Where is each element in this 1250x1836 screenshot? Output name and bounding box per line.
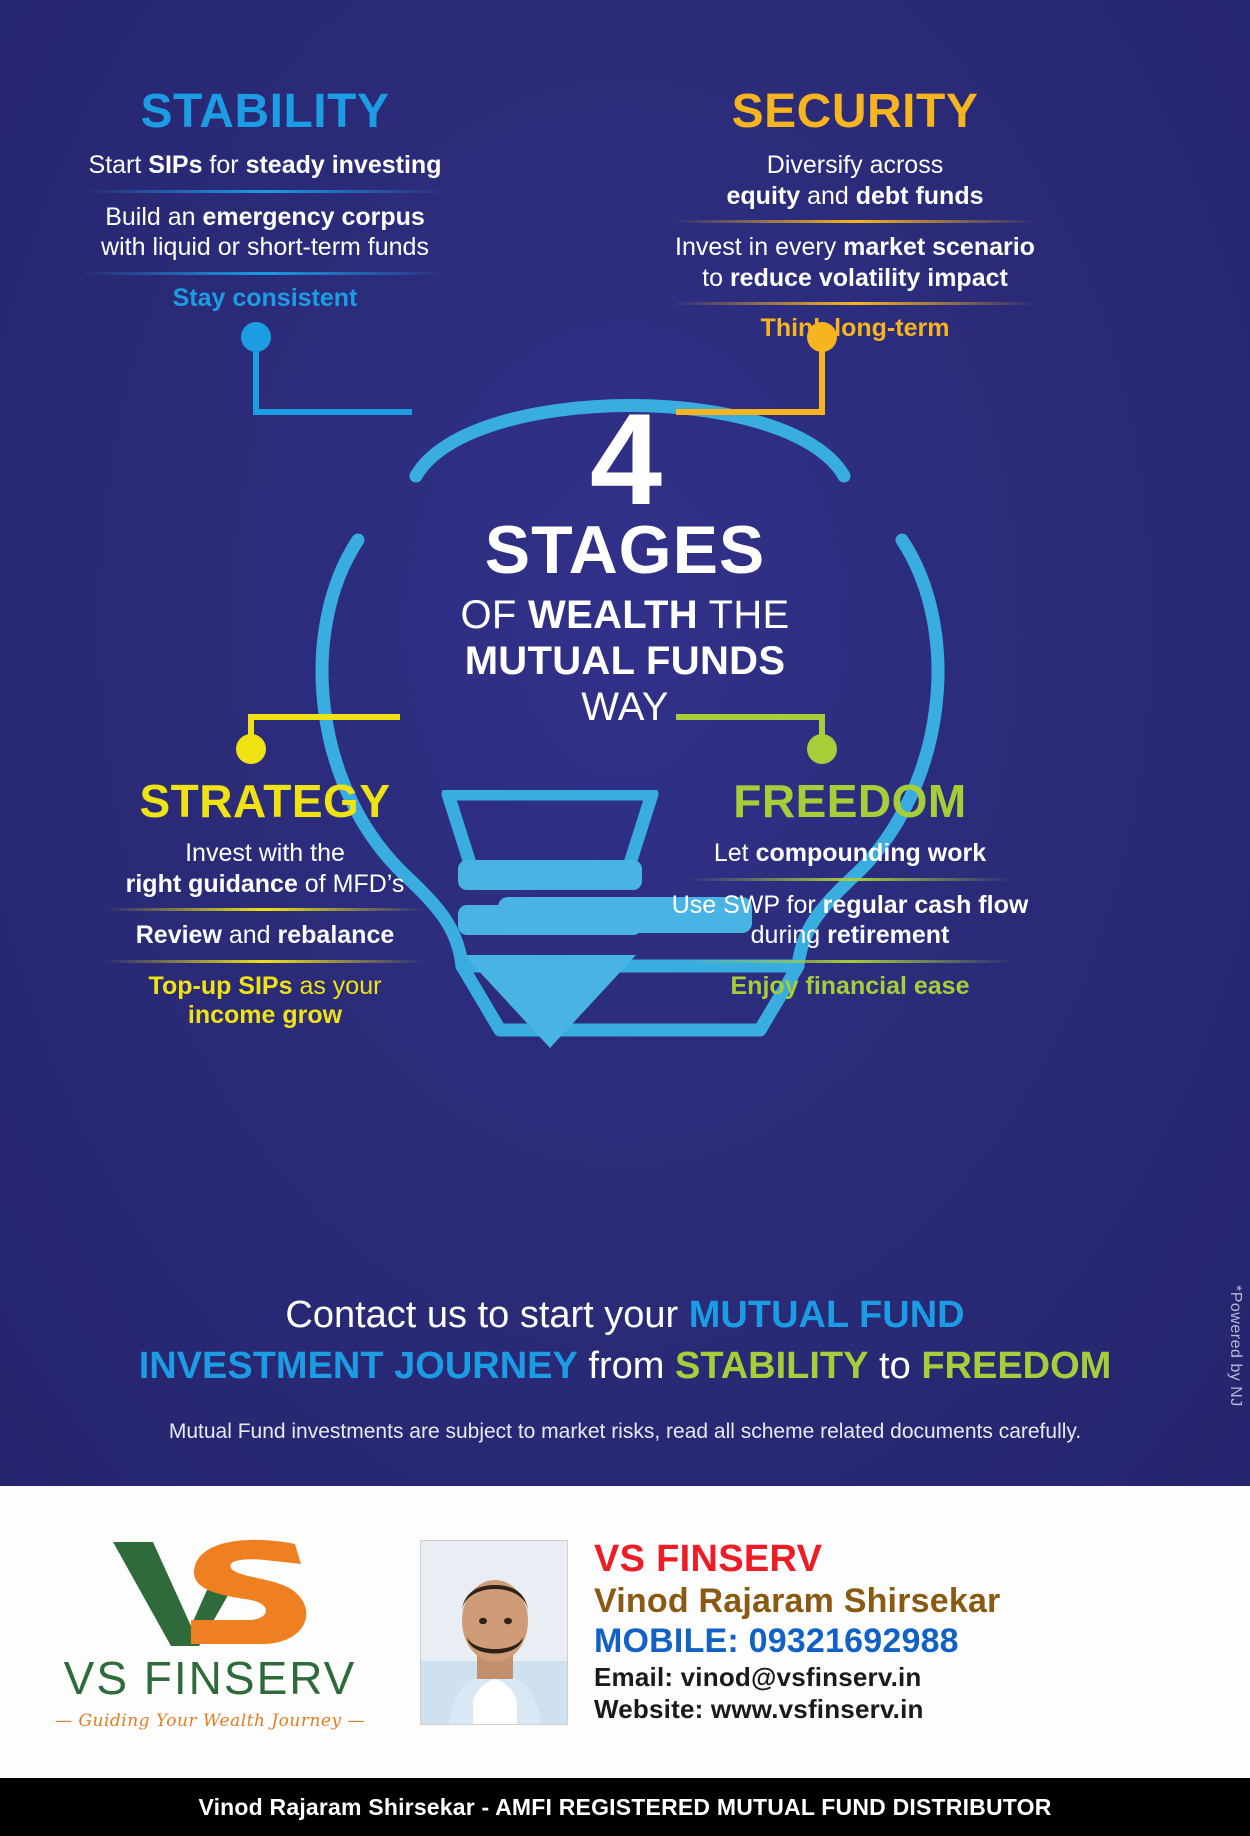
txt: retirement bbox=[827, 921, 949, 949]
freedom-tagline: Enjoy financial ease bbox=[640, 972, 1060, 1001]
txt: Guiding Your Wealth Journey bbox=[78, 1711, 341, 1731]
strategy-dot bbox=[236, 734, 266, 764]
stability-heading: STABILITY bbox=[30, 88, 500, 136]
security-line-1: Diversify across bbox=[620, 150, 1090, 181]
quadrant-security: SECURITY Diversify across equity and deb… bbox=[620, 88, 1090, 343]
txt: Review bbox=[136, 921, 222, 949]
txt: as your bbox=[293, 972, 382, 1000]
txt: Build an bbox=[105, 203, 202, 231]
centre-line-3: OF WEALTH THE bbox=[325, 592, 925, 638]
txt: debt funds bbox=[856, 182, 984, 210]
strategy-line-2: right guidance of MFD’s bbox=[60, 869, 470, 900]
centre-title-block: 4 STAGES OF WEALTH THE MUTUAL FUNDS WAY bbox=[325, 400, 925, 730]
txt: INVESTMENT JOURNEY bbox=[139, 1345, 578, 1387]
security-heading: SECURITY bbox=[620, 88, 1090, 136]
strategy-tagline-2: income grow bbox=[60, 1001, 470, 1030]
quadrant-freedom: FREEDOM Let compounding work Use SWP for… bbox=[640, 778, 1060, 1001]
txt: emergency corpus bbox=[202, 203, 424, 231]
txt: STABILITY bbox=[675, 1345, 869, 1387]
txt: for bbox=[202, 151, 245, 179]
mobile-number[interactable]: MOBILE: 09321692988 bbox=[594, 1621, 1250, 1661]
txt: to bbox=[702, 264, 730, 292]
company-logo: VS FINSERV — Guiding Your Wealth Journey… bbox=[0, 1534, 420, 1731]
centre-of: OF bbox=[460, 593, 528, 637]
txt: Let bbox=[714, 839, 756, 867]
firm-name: VS FINSERV bbox=[594, 1538, 1250, 1581]
centre-wealth: WEALTH bbox=[528, 593, 698, 637]
base-bar-2 bbox=[458, 905, 642, 935]
security-line-3: Invest in every market scenario bbox=[620, 232, 1090, 263]
website-url[interactable]: Website: www.vsfinserv.in bbox=[594, 1693, 1250, 1726]
txt: Top-up SIPs bbox=[149, 972, 293, 1000]
email-address[interactable]: Email: vinod@vsfinserv.in bbox=[594, 1661, 1250, 1694]
footer-bar: VS FINSERV — Guiding Your Wealth Journey… bbox=[0, 1486, 1250, 1778]
strategy-line-1: Invest with the bbox=[60, 838, 470, 869]
base-arrow bbox=[464, 955, 636, 1048]
stability-divider bbox=[82, 190, 449, 193]
txt: equity bbox=[727, 182, 801, 210]
txt: MUTUAL FUND bbox=[689, 1294, 965, 1336]
txt: rebalance bbox=[278, 921, 395, 949]
amfi-registration-bar: Vinod Rajaram Shirsekar - AMFI REGISTERE… bbox=[0, 1778, 1250, 1836]
stability-tagline: Stay consistent bbox=[30, 284, 500, 313]
stability-divider-2 bbox=[82, 272, 449, 275]
centre-line-4: MUTUAL FUNDS bbox=[325, 638, 925, 684]
strategy-divider bbox=[105, 908, 425, 911]
security-tagline: Think long-term bbox=[620, 314, 1090, 343]
base-bar-1 bbox=[458, 860, 642, 890]
centre-line-5: WAY bbox=[325, 684, 925, 730]
logo-wordmark: VS FINSERV bbox=[64, 1651, 357, 1705]
stability-dot bbox=[241, 322, 271, 352]
txt: reduce volatility impact bbox=[730, 264, 1008, 292]
txt: of MFD’s bbox=[298, 870, 405, 898]
portrait-placeholder-icon bbox=[421, 1541, 568, 1725]
txt: FREEDOM bbox=[921, 1345, 1111, 1387]
freedom-line-1: Let compounding work bbox=[640, 838, 1060, 869]
freedom-line-3: during retirement bbox=[640, 920, 1060, 951]
txt: SIPs bbox=[148, 151, 202, 179]
centre-the: THE bbox=[698, 593, 790, 637]
freedom-dot bbox=[807, 734, 837, 764]
amfi-registration-text: Vinod Rajaram Shirsekar - AMFI REGISTERE… bbox=[198, 1794, 1051, 1821]
contact-details: VS FINSERV Vinod Rajaram Shirsekar MOBIL… bbox=[594, 1538, 1250, 1726]
txt: right guidance bbox=[126, 870, 298, 898]
security-divider bbox=[672, 220, 1039, 223]
cta-line-1: Contact us to start your MUTUAL FUND bbox=[0, 1290, 1250, 1341]
txt: market scenario bbox=[843, 233, 1035, 261]
security-line-4: to reduce volatility impact bbox=[620, 263, 1090, 294]
freedom-line-2: Use SWP for regular cash flow bbox=[640, 890, 1060, 921]
txt: compounding work bbox=[756, 839, 987, 867]
stage-count: 4 bbox=[325, 400, 925, 520]
txt: regular cash flow bbox=[823, 891, 1029, 919]
vs-monogram-icon bbox=[95, 1534, 325, 1649]
freedom-heading: FREEDOM bbox=[640, 778, 1060, 824]
txt: and bbox=[800, 182, 856, 210]
stability-line-3: with liquid or short-term funds bbox=[30, 232, 500, 263]
security-line-2: equity and debt funds bbox=[620, 181, 1090, 212]
stability-line-2: Build an emergency corpus bbox=[30, 202, 500, 233]
infographic-poster: 4 STAGES OF WEALTH THE MUTUAL FUNDS WAY … bbox=[0, 0, 1250, 1836]
advisor-photo bbox=[420, 1540, 568, 1725]
logo-tagline: — Guiding Your Wealth Journey — bbox=[55, 1711, 365, 1731]
strategy-tagline: Top-up SIPs as your bbox=[60, 972, 470, 1001]
freedom-divider-2 bbox=[686, 960, 1014, 963]
txt: Contact us to start your bbox=[285, 1294, 688, 1336]
security-divider-2 bbox=[672, 302, 1039, 305]
txt: during bbox=[751, 921, 827, 949]
txt: to bbox=[869, 1345, 922, 1387]
risk-disclaimer: Mutual Fund investments are subject to m… bbox=[0, 1420, 1250, 1444]
quadrant-stability: STABILITY Start SIPs for steady investin… bbox=[30, 88, 500, 313]
powered-by-label: *Powered by NJ bbox=[1226, 1285, 1244, 1407]
bulb-base-bars bbox=[450, 860, 650, 1050]
freedom-divider bbox=[686, 878, 1014, 881]
stages-word: STAGES bbox=[325, 516, 925, 584]
txt: Invest in every bbox=[675, 233, 843, 261]
txt: from bbox=[578, 1345, 675, 1387]
cta-line-2: INVESTMENT JOURNEY from STABILITY to FRE… bbox=[0, 1341, 1250, 1392]
txt: steady investing bbox=[246, 151, 442, 179]
txt: and bbox=[222, 921, 278, 949]
strategy-line-3: Review and rebalance bbox=[60, 920, 470, 951]
quadrant-strategy: STRATEGY Invest with the right guidance … bbox=[60, 778, 470, 1030]
strategy-divider-2 bbox=[105, 960, 425, 963]
strategy-heading: STRATEGY bbox=[60, 778, 470, 824]
txt: Start bbox=[89, 151, 149, 179]
advisor-name: Vinod Rajaram Shirsekar bbox=[594, 1581, 1250, 1621]
stability-line-1: Start SIPs for steady investing bbox=[30, 150, 500, 181]
call-to-action: Contact us to start your MUTUAL FUND INV… bbox=[0, 1290, 1250, 1393]
txt: Use SWP for bbox=[672, 891, 823, 919]
